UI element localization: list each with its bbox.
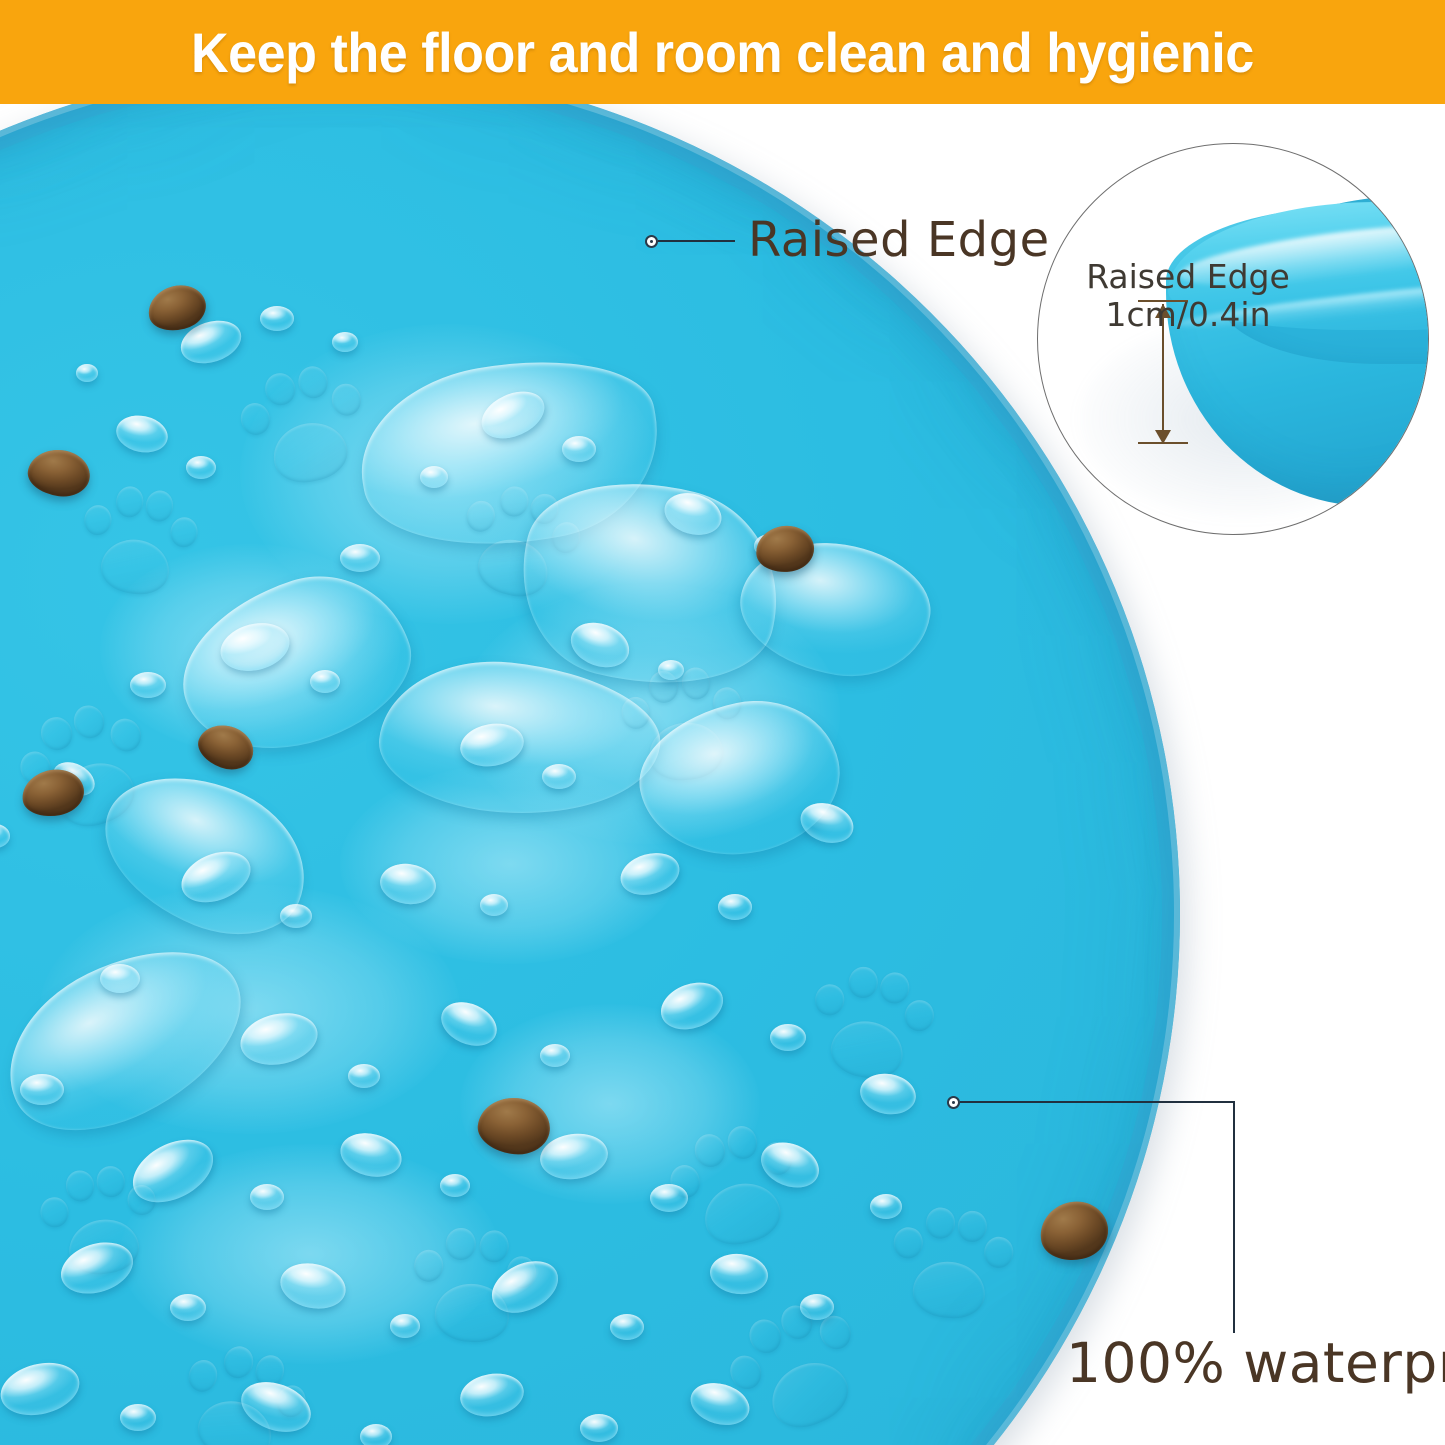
raised-edge-label: Raised Edge <box>748 212 1050 268</box>
raised-edge-detail-inset: Raised Edge 1cm/0.4in <box>1037 143 1429 535</box>
mat-edge-shading-secondary <box>0 104 1180 1445</box>
dimension-arrow-head-down <box>1155 430 1171 444</box>
waterproof-callout-dot <box>947 1096 960 1109</box>
raised-edge-leader-line <box>658 240 735 242</box>
header-title: Keep the floor and room clean and hygien… <box>191 20 1254 85</box>
inset-label-group: Raised Edge 1cm/0.4in <box>1038 258 1338 333</box>
raised-edge-callout-dot <box>645 235 658 248</box>
feeding-mat <box>0 104 1180 1445</box>
inset-title: Raised Edge <box>1086 257 1290 296</box>
waterproof-label: 100% waterproof <box>1066 1331 1445 1395</box>
waterproof-leader-line-vertical <box>1233 1101 1235 1333</box>
waterproof-leader-line-horizontal <box>960 1101 1235 1103</box>
header-banner: Keep the floor and room clean and hygien… <box>0 0 1445 104</box>
inset-measurement: 1cm/0.4in <box>1038 296 1338 334</box>
product-feature-image: Keep the floor and room clean and hygien… <box>0 0 1445 1445</box>
